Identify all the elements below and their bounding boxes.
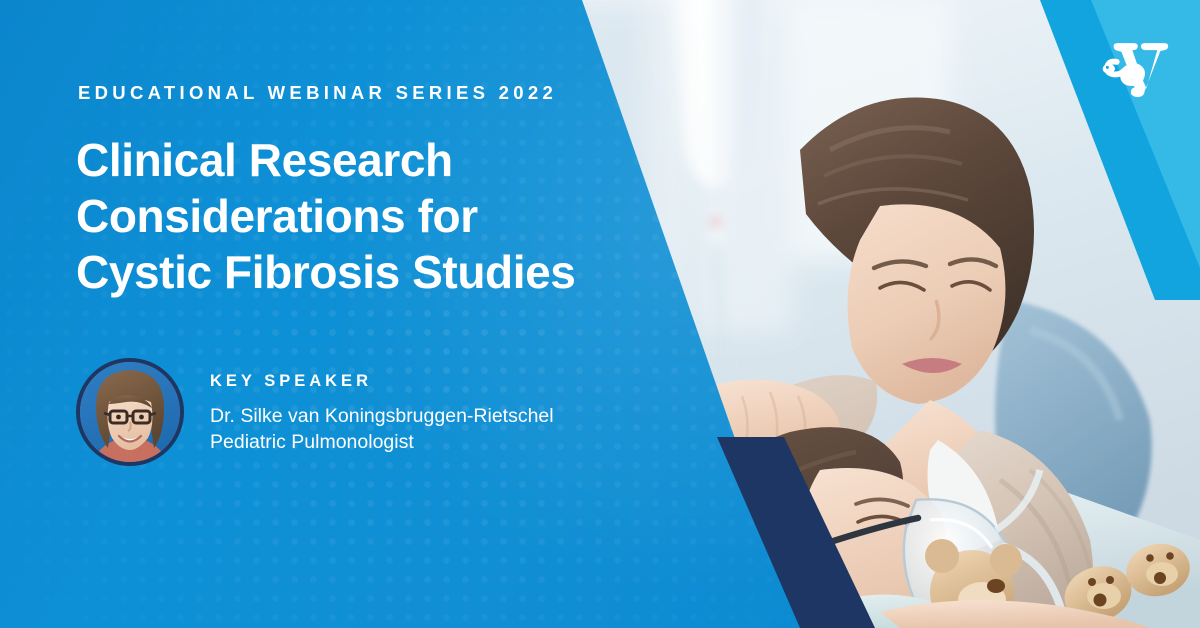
speaker-kicker: KEY SPEAKER [210,372,554,391]
speaker-name: Dr. Silke van Koningsbruggen-Rietschel [210,403,554,429]
v-serpent-logo [1098,26,1176,104]
headline-line-2: Considerations for [76,188,576,244]
avatar-portrait [80,362,180,462]
webinar-promo-banner: EDUCATIONAL WEBINAR SERIES 2022 Clinical… [0,0,1200,628]
speaker-role: Pediatric Pulmonologist [210,429,554,455]
page-title: Clinical Research Considerations for Cys… [76,132,576,300]
eyebrow-label: EDUCATIONAL WEBINAR SERIES 2022 [78,82,557,104]
v-serpent-logo-icon [1098,26,1176,104]
avatar [76,358,184,466]
headline-line-1: Clinical Research [76,132,576,188]
speaker-details: KEY SPEAKER Dr. Silke van Koningsbruggen… [210,358,554,455]
banner-content: EDUCATIONAL WEBINAR SERIES 2022 Clinical… [78,0,618,628]
speaker-block: KEY SPEAKER Dr. Silke van Koningsbruggen… [76,358,554,466]
headline-line-3: Cystic Fibrosis Studies [76,244,576,300]
